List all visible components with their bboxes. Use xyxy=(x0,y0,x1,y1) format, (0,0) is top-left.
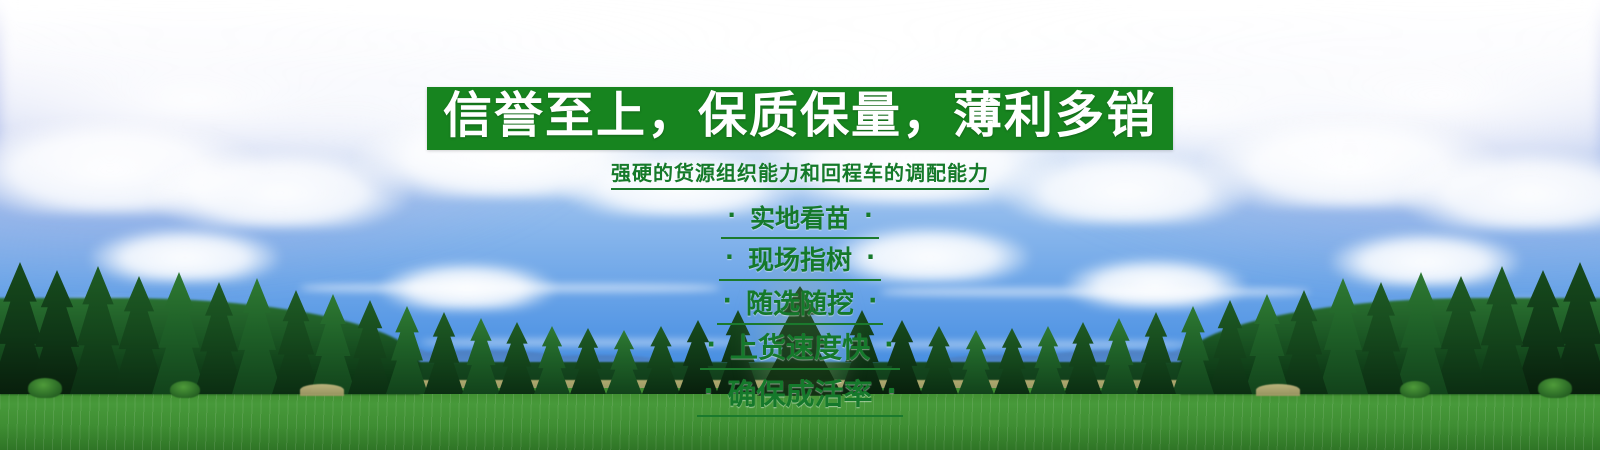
feature-item-4: · 确保成活率 · xyxy=(697,370,902,417)
headline-text: 信誉至上，保质保量，薄利多销 xyxy=(443,91,1157,142)
bullet-dot-icon: · xyxy=(727,205,736,228)
banner-content: 信誉至上，保质保量，薄利多销 强硬的货源组织能力和回程车的调配能力 · 实地看苗… xyxy=(0,0,1600,417)
bullet-dot-icon: · xyxy=(725,246,734,270)
bullet-dot-icon: · xyxy=(866,246,875,270)
feature-label: 上货速度快 xyxy=(730,326,870,366)
bullet-dot-icon: · xyxy=(887,379,897,406)
feature-item-1: · 现场指树 · xyxy=(719,239,881,281)
headline-bar: 信誉至上，保质保量，薄利多销 xyxy=(427,87,1173,150)
bullet-dot-icon: · xyxy=(706,333,716,359)
bullet-dot-icon: · xyxy=(703,379,713,406)
feature-list: · 实地看苗 · · 现场指树 · · 随选随挖 · · 上货速度快 · · xyxy=(697,198,902,417)
feature-item-0: · 实地看苗 · xyxy=(721,198,879,239)
feature-label: 随选随挖 xyxy=(746,282,854,321)
promo-banner: 信誉至上，保质保量，薄利多销 强硬的货源组织能力和回程车的调配能力 · 实地看苗… xyxy=(0,0,1600,450)
feature-label: 确保成活率 xyxy=(727,371,872,413)
feature-item-2: · 随选随挖 · xyxy=(717,281,884,325)
bullet-dot-icon: · xyxy=(884,333,894,359)
bullet-dot-icon: · xyxy=(864,205,873,228)
feature-label: 实地看苗 xyxy=(750,199,850,235)
feature-item-3: · 上货速度快 · xyxy=(700,325,900,370)
subtitle-text: 强硬的货源组织能力和回程车的调配能力 xyxy=(611,157,989,190)
bullet-dot-icon: · xyxy=(723,289,732,314)
bullet-dot-icon: · xyxy=(868,289,877,314)
feature-label: 现场指树 xyxy=(748,240,852,277)
